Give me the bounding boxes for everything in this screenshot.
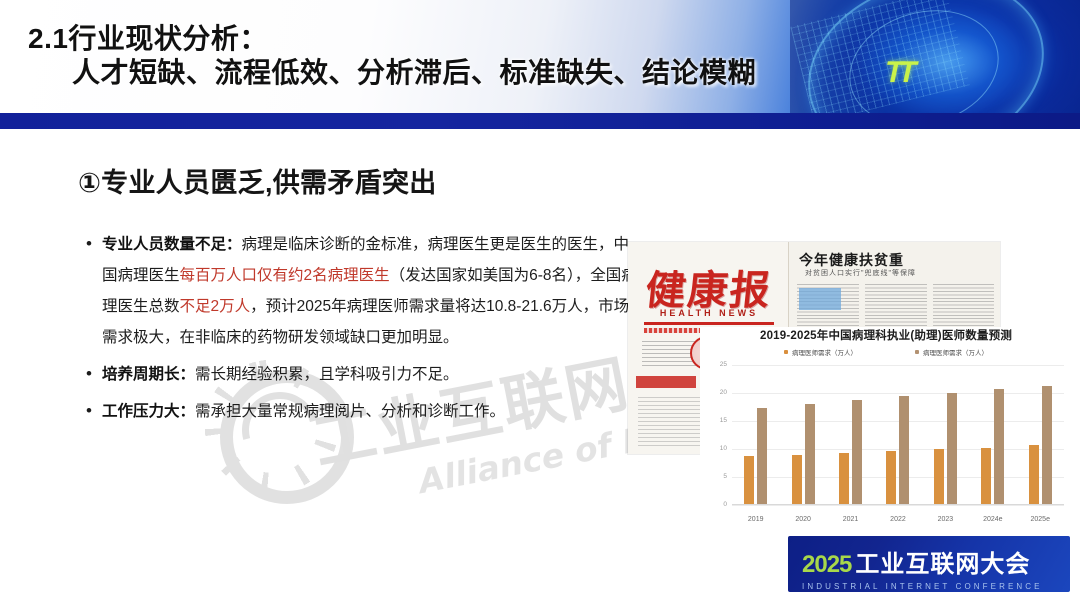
chart-bar	[744, 456, 754, 505]
chart-bar	[805, 404, 815, 505]
legend-label: 病理医师需求（万人）	[792, 347, 857, 357]
chart-bars	[732, 365, 1064, 505]
chart-y-tick-label: 10	[720, 445, 727, 452]
newspaper-lead-subline: 对贫困人口实行"兜底线"等保障	[805, 268, 916, 278]
chart-bar-group	[981, 365, 1004, 505]
pathologist-forecast-chart: 2019-2025年中国病理科执业(助理)医师数量预测 病理医师需求（万人） 病…	[700, 327, 1072, 537]
chart-x-tick-label: 2025e	[1025, 516, 1055, 523]
chart-x-tick-label: 2024e	[978, 516, 1008, 523]
chart-bar	[792, 455, 802, 505]
chart-bar-group	[792, 365, 815, 505]
chart-bar-group	[1029, 365, 1052, 505]
bullet-seg: 需承担大量常规病理阅片、分析和诊断工作。	[195, 403, 505, 420]
chart-x-axis-labels: 201920202021202220232024e2025e	[732, 516, 1064, 523]
chart-x-tick-label: 2023	[930, 516, 960, 523]
legend-label: 病理医师需求（万人）	[923, 347, 988, 357]
section-heading: ①专业人员匮乏,供需矛盾突出	[78, 161, 437, 200]
conference-logo-row: 2025 工业互联网大会	[802, 544, 1043, 579]
conference-logo-inner: 2025 工业互联网大会 INDUSTRIAL INTERNET CONFERE…	[802, 544, 1043, 591]
conference-logo: 2025 工业互联网大会 INDUSTRIAL INTERNET CONFERE…	[788, 536, 1070, 592]
legend-item-series-b: 病理医师需求（万人）	[915, 347, 988, 357]
chart-bar	[1029, 445, 1039, 505]
chart-bar-group	[886, 365, 909, 505]
newspaper-name-en: HEALTH NEWS	[634, 308, 784, 318]
chart-x-tick-label: 2021	[836, 516, 866, 523]
chart-y-tick-label: 20	[720, 389, 727, 396]
legend-swatch-icon	[784, 350, 788, 354]
chart-legend: 病理医师需求（万人） 病理医师需求（万人）	[700, 347, 1072, 357]
chart-y-tick-label: 15	[720, 417, 727, 424]
bullet-list: • 专业人员数量不足：病理是临床诊断的金标准，病理医生更是医生的医生，中国病理医…	[86, 229, 638, 433]
bullet-text: 培养周期长：需长期经验积累，且学科吸引力不足。	[102, 359, 459, 390]
chart-bar	[947, 393, 957, 505]
chart-bar	[934, 449, 944, 505]
chart-bar	[886, 451, 896, 505]
bullet-seg: 需长期经验积累，且学科吸引力不足。	[195, 366, 459, 383]
chart-bar	[994, 389, 1004, 505]
conference-name-en: INDUSTRIAL INTERNET CONFERENCE	[802, 582, 1043, 591]
bullet-text: 专业人员数量不足：病理是临床诊断的金标准，病理医生更是医生的医生，中国病理医生每…	[102, 229, 638, 353]
bullet-seg-highlight: 每百万人口仅有约2名病理医生	[180, 267, 390, 284]
chart-x-tick-label: 2022	[883, 516, 913, 523]
chart-bar	[899, 396, 909, 505]
chart-y-tick-label: 25	[720, 361, 727, 368]
legend-swatch-icon	[915, 350, 919, 354]
chart-bar	[981, 448, 991, 505]
masthead-rule	[644, 322, 774, 325]
chart-y-tick-label: 5	[723, 473, 727, 480]
chart-bar-group	[839, 365, 862, 505]
bullet-label: 工作压力大：	[102, 403, 195, 420]
chart-title: 2019-2025年中国病理科执业(助理)医师数量预测	[700, 327, 1072, 343]
bullet-marker: •	[86, 396, 102, 426]
bullet-text: 工作压力大：需承担大量常规病理阅片、分析和诊断工作。	[102, 396, 505, 427]
chart-x-tick-label: 2019	[741, 516, 771, 523]
bullet-marker: •	[86, 229, 102, 259]
slide-title-line2: 人才短缺、流程低效、分析滞后、标准缺失、结论模糊	[28, 56, 888, 90]
bullet-seg-highlight: 不足2万人	[180, 298, 251, 315]
chart-x-axis-line	[732, 504, 1064, 505]
header-divider-bar	[0, 113, 1080, 129]
slide-root: TT 2.1行业现状分析： 人才短缺、流程低效、分析滞后、标准缺失、结论模糊 ①…	[0, 0, 1080, 608]
chart-bar	[1042, 386, 1052, 505]
newspaper-photo	[799, 288, 841, 310]
bullet-label: 专业人员数量不足：	[102, 236, 242, 253]
chart-y-tick-label: 0	[723, 501, 727, 508]
list-item: • 工作压力大：需承担大量常规病理阅片、分析和诊断工作。	[86, 396, 638, 427]
chart-bar	[839, 453, 849, 505]
chart-bar	[852, 400, 862, 505]
bullet-label: 培养周期长：	[102, 366, 195, 383]
chart-x-tick-label: 2020	[788, 516, 818, 523]
chart-bar-group	[744, 365, 767, 505]
conference-year: 2025	[802, 551, 851, 579]
list-item: • 培养周期长：需长期经验积累，且学科吸引力不足。	[86, 359, 638, 390]
masthead-red-box	[636, 376, 696, 388]
bullet-marker: •	[86, 359, 102, 389]
chart-bar-group	[934, 365, 957, 505]
legend-item-series-a: 病理医师需求（万人）	[784, 347, 857, 357]
list-item: • 专业人员数量不足：病理是临床诊断的金标准，病理医生更是医生的医生，中国病理医…	[86, 229, 638, 353]
chart-gridline: 0	[732, 505, 1064, 506]
slide-title: 2.1行业现状分析： 人才短缺、流程低效、分析滞后、标准缺失、结论模糊	[28, 22, 888, 90]
conference-name-cn: 工业互联网大会	[855, 544, 1030, 579]
slide-title-line1: 2.1行业现状分析：	[28, 22, 888, 56]
chart-plot-area: 0510152025	[732, 365, 1064, 505]
slide-header: TT 2.1行业现状分析： 人才短缺、流程低效、分析滞后、标准缺失、结论模糊	[0, 0, 1080, 113]
chart-bar	[757, 408, 767, 505]
newspaper-lead-headline: 今年健康扶贫重	[799, 250, 904, 270]
